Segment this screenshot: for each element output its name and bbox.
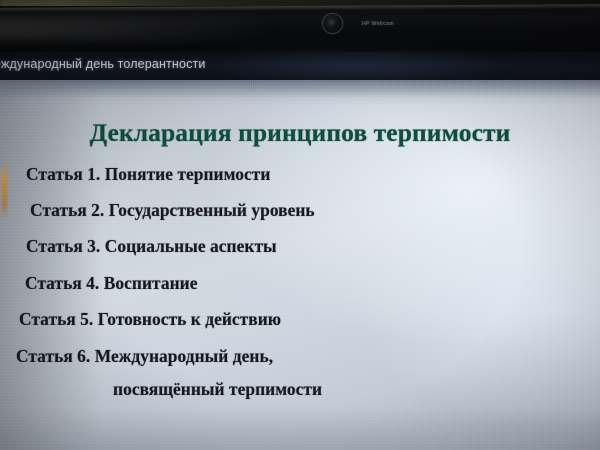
lcd-scanline-texture (0, 80, 600, 450)
bezel-sheen-left (0, 18, 310, 40)
titlebar-glare (200, 52, 520, 80)
presentation-slide: Декларация принципов терпимости Статья 1… (0, 80, 600, 450)
webcam-brand-label: HP Webcam (362, 21, 394, 27)
webcam-icon (323, 14, 342, 33)
app-titlebar-label: еждународный день толерантности (0, 57, 205, 71)
app-titlebar: еждународный день толерантности (0, 52, 600, 80)
webcam-lens-icon (328, 19, 337, 28)
laptop-screen-photo: HP Webcam еждународный день толерантност… (0, 0, 600, 450)
